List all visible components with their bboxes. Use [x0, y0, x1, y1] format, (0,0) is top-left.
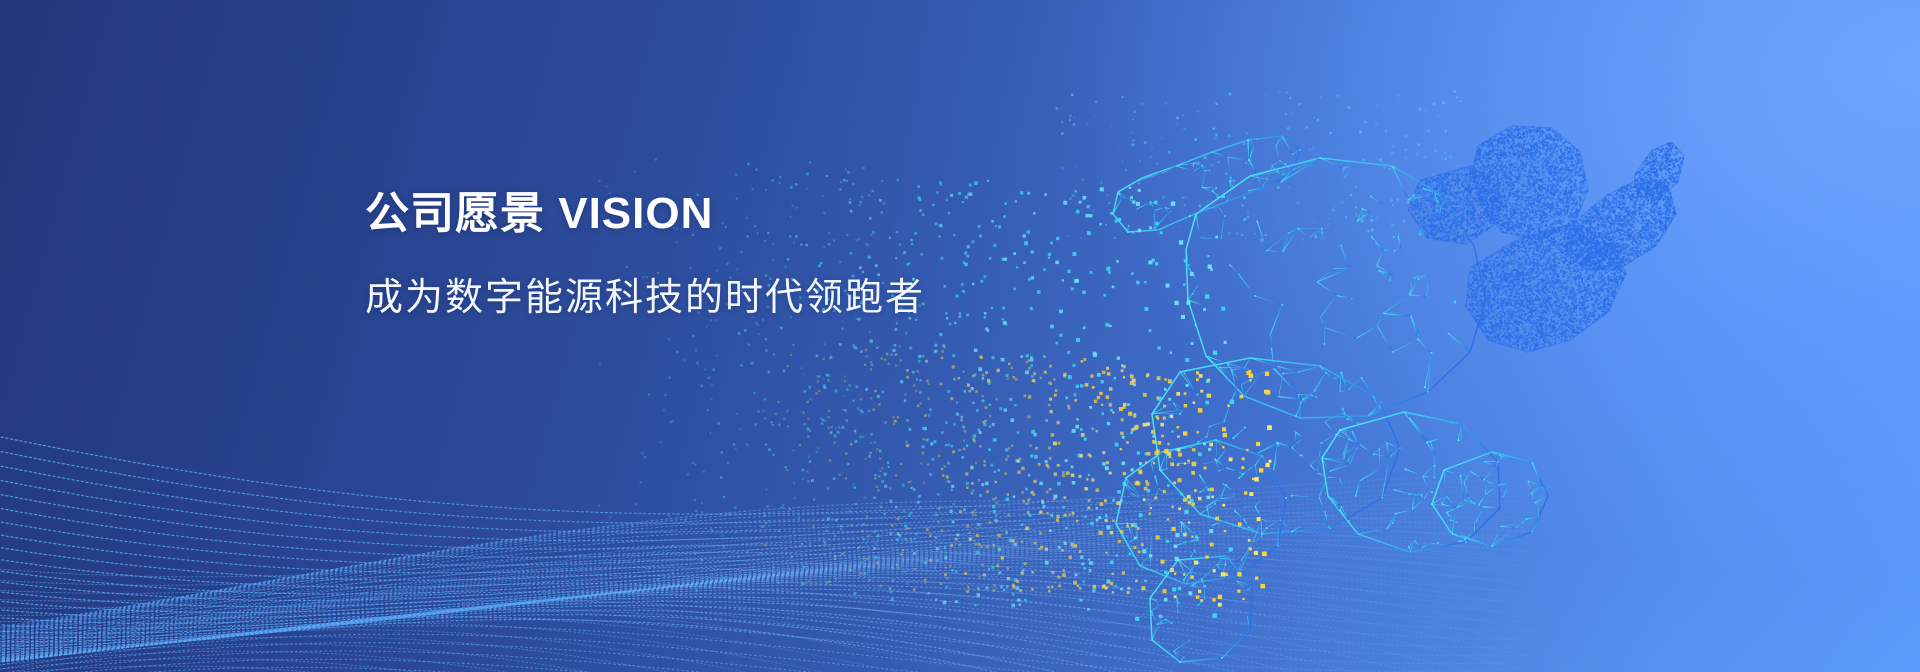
page-title: 公司愿景 VISION: [365, 188, 925, 241]
wave-mesh-icon: [0, 0, 1920, 672]
page-subtitle: 成为数字能源科技的时代领跑者: [365, 275, 925, 323]
wireframe-runner-icon: [0, 0, 1920, 672]
vision-banner: 公司愿景 VISION 成为数字能源科技的时代领跑者: [0, 0, 1920, 672]
runner-head-arm: [1408, 126, 1684, 353]
particle-dispersion-icon: [594, 90, 1464, 621]
vision-text-block: 公司愿景 VISION 成为数字能源科技的时代领跑者: [365, 188, 925, 322]
